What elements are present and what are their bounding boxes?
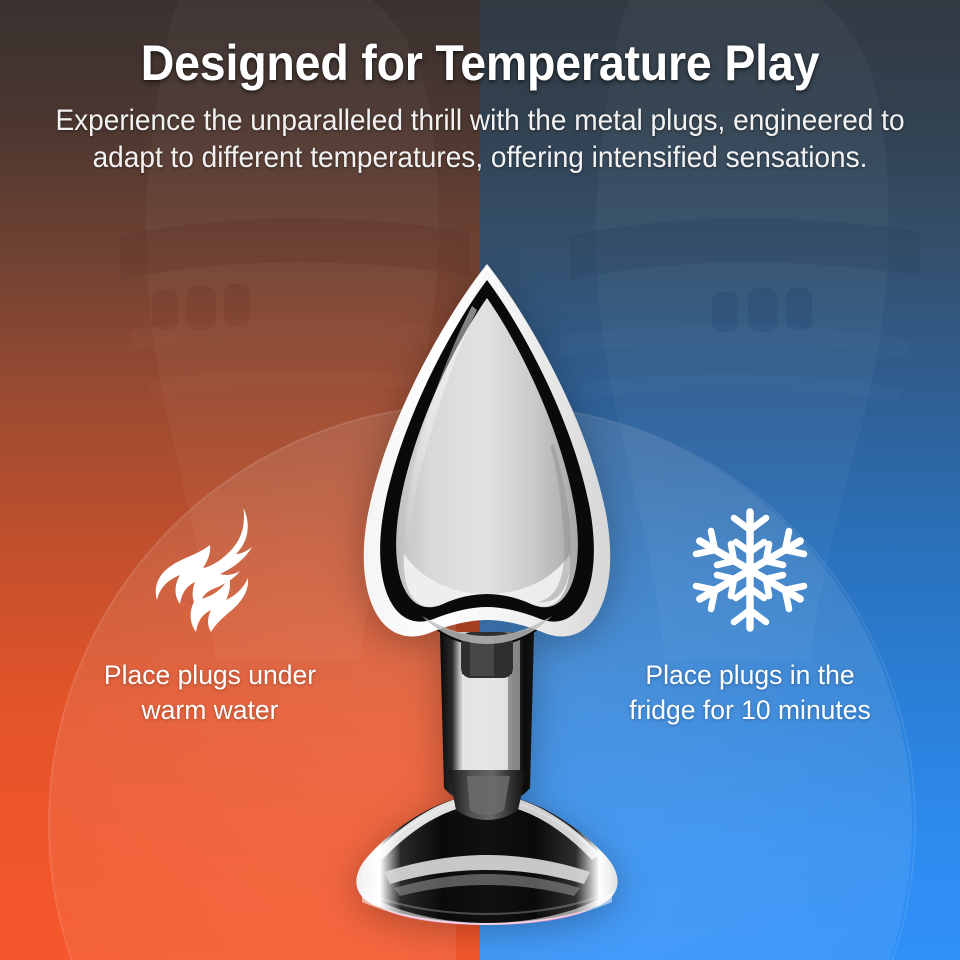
page-subtitle: Experience the unparalleled thrill with … bbox=[24, 92, 936, 176]
header-text-block: Designed for Temperature Play Experience… bbox=[0, 0, 960, 176]
feature-cool: Place plugs in the fridge for 10 minutes bbox=[540, 500, 960, 728]
feature-cool-caption-line2: fridge for 10 minutes bbox=[629, 695, 871, 725]
page-title: Designed for Temperature Play bbox=[34, 0, 927, 92]
feature-cool-caption: Place plugs in the fridge for 10 minutes bbox=[540, 640, 960, 728]
feature-warm-caption-line1: Place plugs under bbox=[104, 660, 316, 690]
feature-warm-caption-line2: warm water bbox=[142, 695, 279, 725]
flame-icon bbox=[0, 500, 420, 640]
promo-banner: Designed for Temperature Play Experience… bbox=[0, 0, 960, 960]
feature-warm-caption: Place plugs under warm water bbox=[0, 640, 420, 728]
snowflake-icon bbox=[540, 500, 960, 640]
feature-cool-caption-line1: Place plugs in the bbox=[645, 660, 854, 690]
feature-warm: Place plugs under warm water bbox=[0, 500, 420, 728]
